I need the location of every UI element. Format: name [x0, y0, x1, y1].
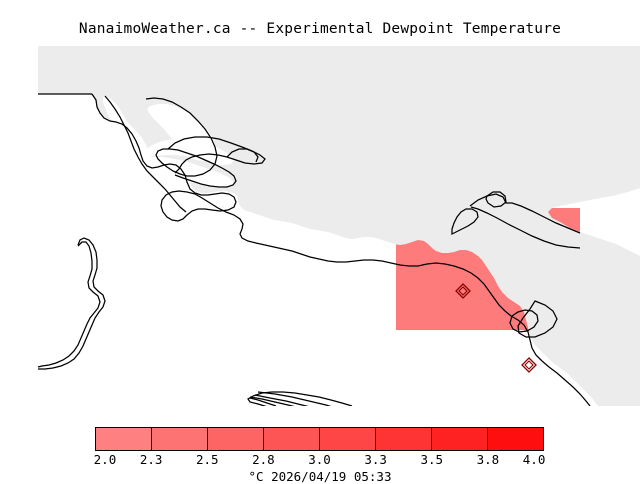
colorbar-gradient[interactable] — [95, 427, 544, 451]
colorbar-segment-5[interactable] — [320, 428, 376, 450]
weather-map[interactable] — [0, 46, 640, 406]
colorbar-tick-labels: 2.02.32.52.83.03.33.53.84.0 — [0, 452, 640, 468]
colorbar-segment-8[interactable] — [488, 428, 543, 450]
colorbar-tick-2.0: 2.0 — [94, 452, 117, 467]
colorbar-legend[interactable]: 2.02.32.52.83.03.33.53.84.0 °C 2026/04/1… — [0, 424, 640, 480]
map-panel[interactable] — [0, 46, 640, 406]
colorbar-tick-3.0: 3.0 — [308, 452, 331, 467]
page-title: NanaimoWeather.ca -- Experimental Dewpoi… — [0, 21, 640, 37]
colorbar-caption: °C 2026/04/19 05:33 — [0, 469, 640, 484]
colorbar-segment-7[interactable] — [432, 428, 488, 450]
colorbar-tick-2.3: 2.3 — [140, 452, 163, 467]
colorbar-segment-4[interactable] — [264, 428, 320, 450]
colorbar-segment-2[interactable] — [152, 428, 208, 450]
colorbar-segment-1[interactable] — [96, 428, 152, 450]
colorbar-tick-2.5: 2.5 — [196, 452, 219, 467]
colorbar-tick-2.8: 2.8 — [252, 452, 275, 467]
colorbar-tick-4.0: 4.0 — [523, 452, 546, 467]
colorbar-segment-6[interactable] — [376, 428, 432, 450]
colorbar-tick-3.5: 3.5 — [420, 452, 443, 467]
colorbar-segment-3[interactable] — [208, 428, 264, 450]
colorbar-tick-3.8: 3.8 — [477, 452, 500, 467]
colorbar-tick-3.3: 3.3 — [364, 452, 387, 467]
